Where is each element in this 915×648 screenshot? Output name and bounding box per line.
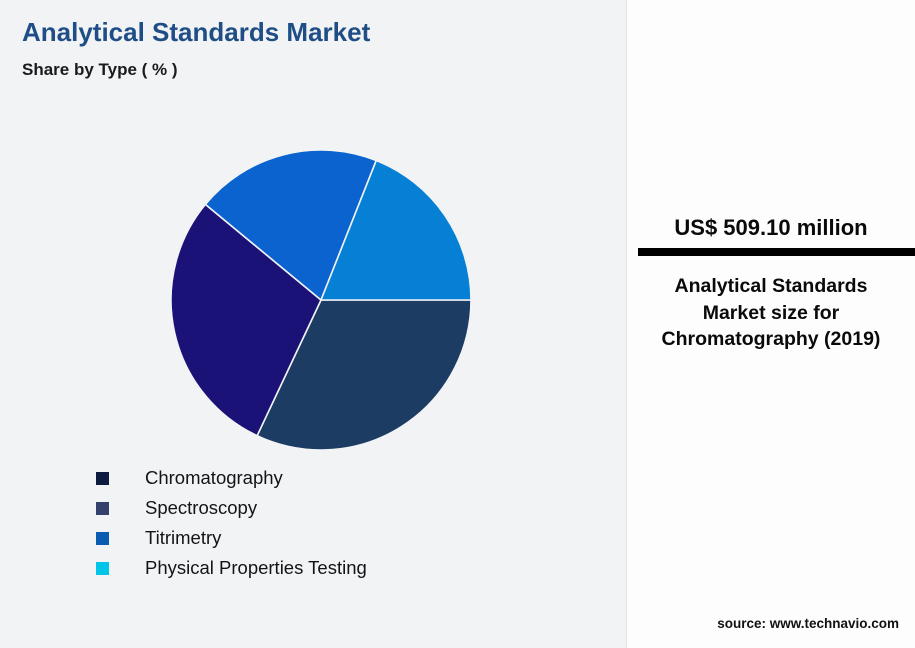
legend-label: Physical Properties Testing	[145, 557, 367, 579]
chart-subtitle: Share by Type ( % )	[22, 60, 178, 80]
callout-description: Analytical Standards Market size for Chr…	[645, 273, 897, 353]
legend-swatch-icon	[96, 532, 109, 545]
legend-item-titrimetry[interactable]: Titrimetry	[96, 523, 367, 553]
legend-item-spectroscopy[interactable]: Spectroscopy	[96, 493, 367, 523]
callout-divider	[638, 248, 915, 256]
pie-chart	[171, 150, 471, 450]
pie-chart-svg	[171, 150, 471, 450]
legend-swatch-icon	[96, 562, 109, 575]
legend-label: Chromatography	[145, 467, 283, 489]
chart-callout-panel: US$ 509.10 million Analytical Standards …	[626, 0, 915, 648]
legend-item-chromatography[interactable]: Chromatography	[96, 463, 367, 493]
legend-label: Spectroscopy	[145, 497, 257, 519]
legend-swatch-icon	[96, 502, 109, 515]
legend-item-physical-properties-testing[interactable]: Physical Properties Testing	[96, 553, 367, 583]
legend-swatch-icon	[96, 472, 109, 485]
legend-label: Titrimetry	[145, 527, 221, 549]
callout-value: US$ 509.10 million	[627, 215, 915, 241]
chart-page: Analytical Standards Market Share by Typ…	[0, 0, 915, 648]
source-note: source: www.technavio.com	[717, 616, 899, 631]
chart-left-panel: Analytical Standards Market Share by Typ…	[0, 0, 620, 648]
page-title: Analytical Standards Market	[22, 17, 370, 48]
chart-legend: Chromatography Spectroscopy Titrimetry P…	[96, 463, 367, 583]
